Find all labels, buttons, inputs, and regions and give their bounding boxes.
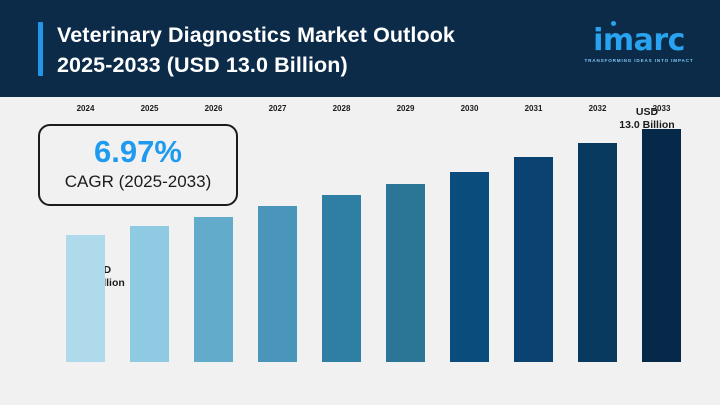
header-banner: Veterinary Diagnostics Market Outlook 20…: [0, 0, 720, 97]
logo-wordmark-text: imarc: [593, 23, 685, 58]
chart-bar: [386, 184, 425, 362]
bar-category-label: 2029: [373, 104, 438, 113]
imarc-logo: imarc TRANSFORMING IDEAS INTO IMPACT: [580, 26, 698, 72]
bar-category-label: 2033: [629, 104, 694, 113]
bar-category-label: 2032: [565, 104, 630, 113]
logo-wordmark: imarc: [580, 26, 698, 56]
bar-group: 2026: [194, 100, 233, 362]
bar-group: 2032: [578, 100, 617, 362]
bar-category-label: 2030: [437, 104, 502, 113]
page-title: Veterinary Diagnostics Market Outlook 20…: [57, 20, 577, 80]
bar-group: 2030: [450, 100, 489, 362]
bar-category-label: 2025: [117, 104, 182, 113]
chart-bar: [66, 235, 105, 362]
bar-chart: USD 7.1 Billion USD 13.0 Billion 2024202…: [0, 100, 720, 405]
chart-bar: [130, 226, 169, 362]
logo-dot-icon: [611, 21, 616, 26]
chart-bar: [322, 195, 361, 362]
chart-bar: [450, 172, 489, 362]
chart-bar: [194, 217, 233, 362]
bar-category-label: 2028: [309, 104, 374, 113]
bar-group: 2024: [66, 100, 105, 362]
bar-group: 2025: [130, 100, 169, 362]
chart-bar: [258, 206, 297, 362]
bar-category-label: 2027: [245, 104, 310, 113]
title-line-2: 2025-2033 (USD 13.0 Billion): [57, 50, 577, 80]
chart-bar: [642, 129, 681, 362]
bar-category-label: 2031: [501, 104, 566, 113]
chart-bar: [514, 157, 553, 362]
bar-group: 2027: [258, 100, 297, 362]
logo-tagline: TRANSFORMING IDEAS INTO IMPACT: [580, 58, 698, 63]
bar-category-label: 2024: [53, 104, 118, 113]
bar-group: 2033: [642, 100, 681, 362]
chart-bar: [578, 143, 617, 362]
bar-group: 2031: [514, 100, 553, 362]
accent-bar: [38, 22, 43, 76]
bar-group: 2028: [322, 100, 361, 362]
bar-group: 2029: [386, 100, 425, 362]
title-line-1: Veterinary Diagnostics Market Outlook: [57, 23, 455, 47]
bar-category-label: 2026: [181, 104, 246, 113]
